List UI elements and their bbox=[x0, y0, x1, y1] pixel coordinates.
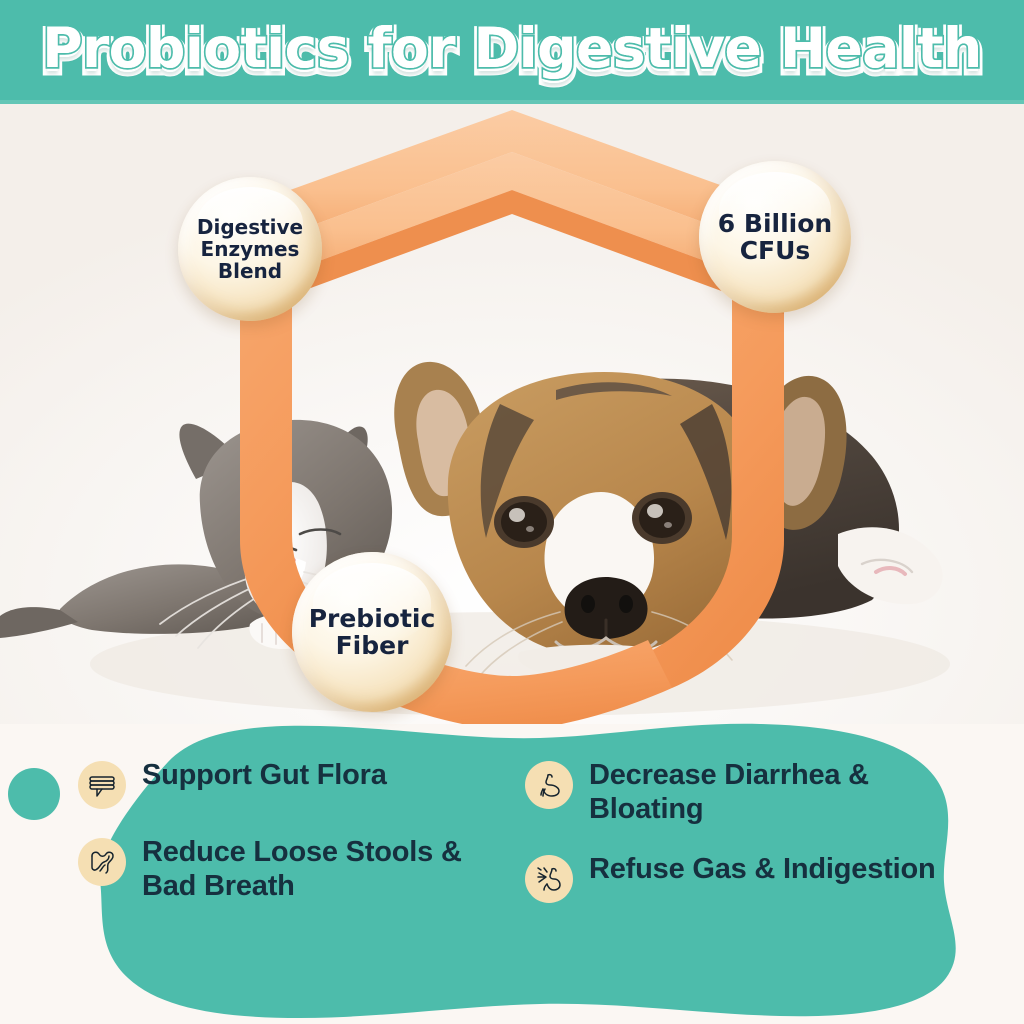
badge-cfu-count[interactable]: 6 BillionCFUs bbox=[699, 161, 851, 313]
benefit-label: Decrease Diarrhea & Bloating bbox=[589, 758, 958, 826]
page-title-fill: Probiotics for Digestive Health bbox=[42, 21, 981, 76]
benefit-label: Refuse Gas & Indigestion bbox=[589, 852, 936, 886]
benefit-label: Reduce Loose Stools & Bad Breath bbox=[142, 835, 511, 903]
pet-photo bbox=[0, 104, 1024, 724]
decorative-dot bbox=[8, 768, 60, 820]
header-banner: Probiotics for Digestive Health Probioti… bbox=[0, 0, 1024, 104]
hero-photo-stage bbox=[0, 104, 1024, 724]
benefits-grid: Support Gut Flora Reduce Loose Stools & … bbox=[78, 758, 958, 903]
stomach-icon bbox=[525, 761, 573, 809]
product-infographic: Probiotics for Digestive Health Probioti… bbox=[0, 0, 1024, 1024]
stomach-gas-icon bbox=[525, 855, 573, 903]
benefits-panel: Support Gut Flora Reduce Loose Stools & … bbox=[0, 700, 1024, 1024]
colon-intestine-icon bbox=[78, 838, 126, 886]
benefit-support-gut-flora[interactable]: Support Gut Flora bbox=[78, 758, 511, 809]
benefit-label: Support Gut Flora bbox=[142, 758, 387, 792]
benefit-refuse-gas[interactable]: Refuse Gas & Indigestion bbox=[525, 852, 958, 903]
badge-digestive-enzymes[interactable]: DigestiveEnzymesBlend bbox=[178, 177, 322, 321]
badge-prebiotic-fiber-label: PrebioticFiber bbox=[301, 605, 444, 660]
benefit-decrease-diarrhea[interactable]: Decrease Diarrhea & Bloating bbox=[525, 758, 958, 826]
badge-prebiotic-fiber[interactable]: PrebioticFiber bbox=[292, 552, 452, 712]
badge-digestive-enzymes-label: DigestiveEnzymesBlend bbox=[189, 216, 311, 282]
benefits-column-left: Support Gut Flora Reduce Loose Stools & … bbox=[78, 758, 511, 903]
intestine-bubble-icon bbox=[78, 761, 126, 809]
benefits-column-right: Decrease Diarrhea & Bloating Refuse Gas … bbox=[525, 758, 958, 903]
benefit-reduce-loose-stools[interactable]: Reduce Loose Stools & Bad Breath bbox=[78, 835, 511, 903]
badge-cfu-count-label: 6 BillionCFUs bbox=[710, 210, 840, 265]
